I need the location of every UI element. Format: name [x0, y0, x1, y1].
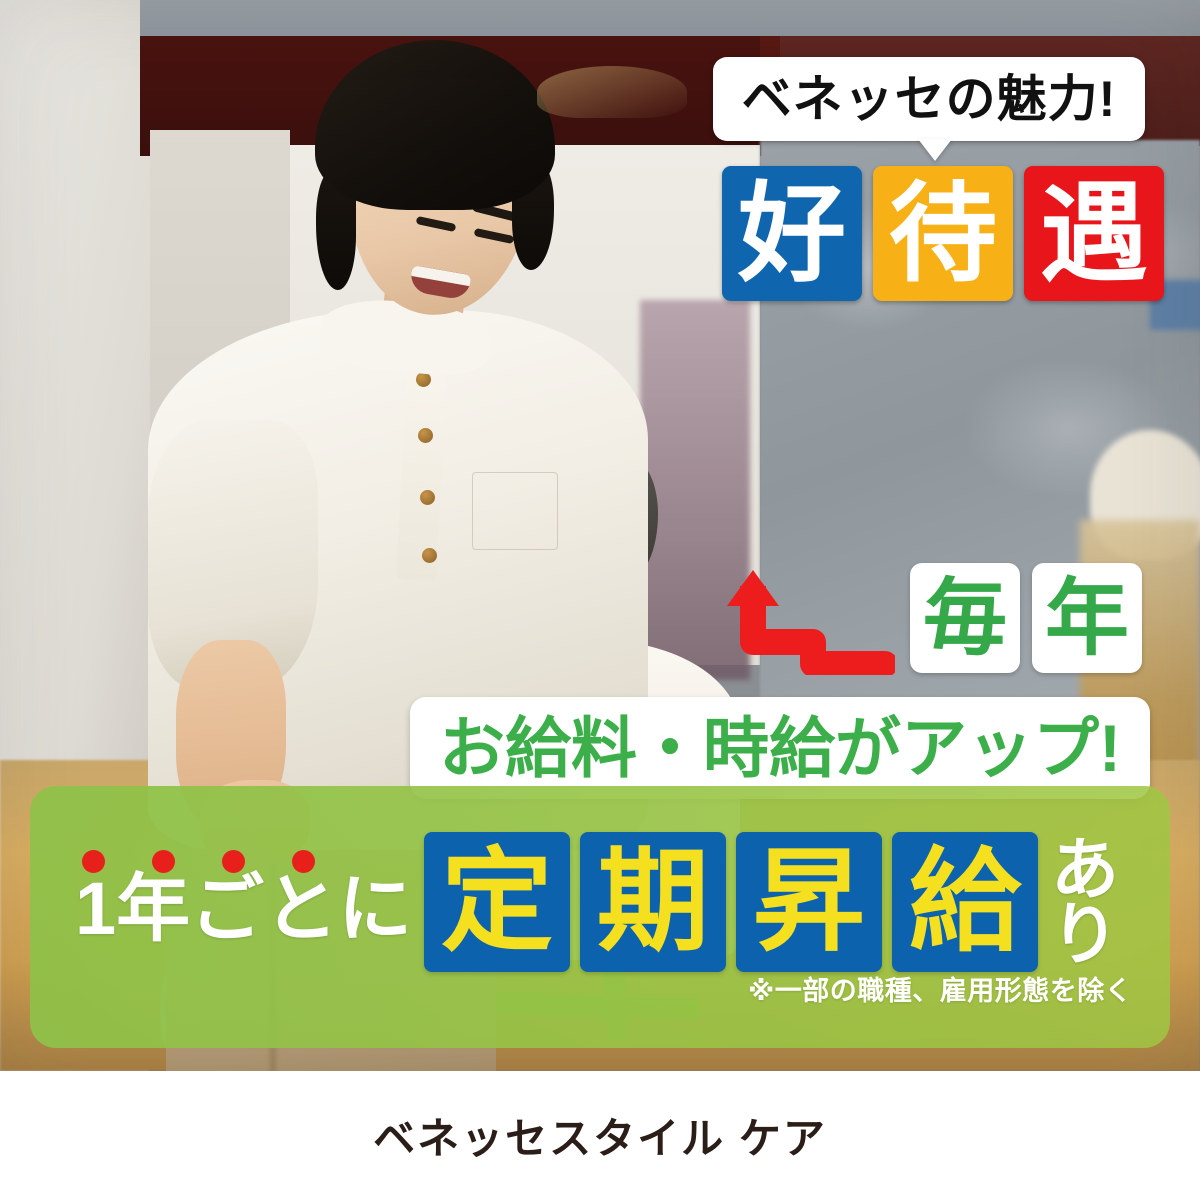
- headline-tile-遇: 遇: [1024, 166, 1164, 301]
- benesse-appeal-bubble: ベネッセの魅力!: [713, 57, 1145, 141]
- raise-tile-給: 給: [892, 832, 1038, 972]
- yearly-tile-年: 年: [1032, 563, 1142, 673]
- band-lead-text: 1年ごとに: [75, 872, 412, 946]
- raise-tile-期: 期: [580, 832, 726, 972]
- raise-tile-定: 定: [424, 832, 570, 972]
- bubble-tail: [918, 139, 952, 161]
- ari-char-top: あ: [1051, 838, 1119, 903]
- salary-up-banner: お給料・時給がアップ!: [410, 697, 1150, 799]
- footer: ベネッセスタイル ケア: [0, 1071, 1200, 1200]
- brand-logo: ベネッセスタイル ケア: [373, 1105, 827, 1166]
- headline-tile-好: 好: [722, 166, 862, 301]
- ad-banner: ベネッセの魅力! 好待遇 毎年 お給料・時給がアップ! 1年ごとに 定期昇給 あ…: [0, 0, 1200, 1200]
- caregiver-hair: [315, 40, 555, 210]
- ari-suffix: あ り: [1045, 832, 1125, 974]
- headline-tiles: 好待遇: [722, 166, 1164, 301]
- bubble-text: ベネッセの魅力!: [742, 74, 1117, 124]
- caregiver-shirt-pocket: [472, 472, 558, 550]
- salary-up-text: お給料・時給がアップ!: [439, 715, 1121, 781]
- shirt-button-2: [418, 428, 433, 443]
- raise-tile-昇: 昇: [736, 832, 882, 972]
- yearly-tiles: 毎年: [910, 563, 1142, 673]
- yearly-tile-毎: 毎: [910, 563, 1020, 673]
- raise-tiles: 定期昇給: [424, 832, 1038, 972]
- headline-tile-待: 待: [873, 166, 1013, 301]
- shirt-button-3: [420, 490, 435, 505]
- band-footnote: ※一部の職種、雇用形態を除く: [748, 978, 1132, 1005]
- ari-char-bottom: り: [1051, 903, 1119, 968]
- shirt-button-4: [422, 548, 437, 563]
- red-step-up-arrow-icon: [725, 560, 895, 675]
